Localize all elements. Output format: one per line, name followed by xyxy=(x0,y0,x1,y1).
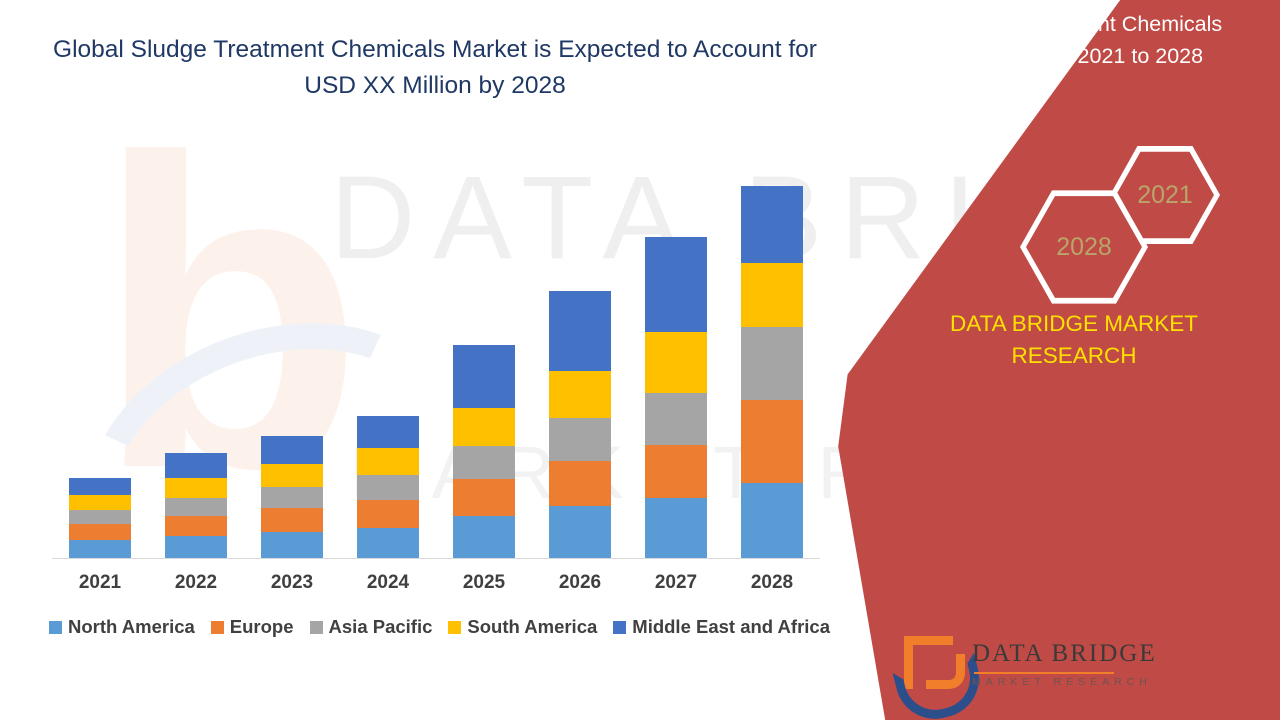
stacked-bar[interactable] xyxy=(645,237,707,558)
hexagon-label-2021: 2021 xyxy=(1137,181,1193,210)
x-axis-label-2025: 2025 xyxy=(436,572,532,594)
x-axis-label-2026: 2026 xyxy=(532,572,628,594)
bar-segment-asia-pacific[interactable] xyxy=(165,498,227,516)
legend-label: Europe xyxy=(230,616,294,638)
hexagon-badge-2028: 2028 xyxy=(1020,188,1148,306)
stacked-bar-chart xyxy=(52,150,820,558)
legend-swatch-icon xyxy=(613,621,626,634)
legend-swatch-icon xyxy=(49,621,62,634)
stacked-bar[interactable] xyxy=(453,345,515,558)
legend-swatch-icon xyxy=(448,621,461,634)
logo-b-icon xyxy=(898,636,966,698)
x-axis-label-2027: 2027 xyxy=(628,572,724,594)
bar-segment-south-america[interactable] xyxy=(165,478,227,498)
bar-segment-europe[interactable] xyxy=(549,461,611,506)
bar-segment-south-america[interactable] xyxy=(741,263,803,327)
bar-segment-middle-east-and-africa[interactable] xyxy=(69,478,131,495)
bar-column-2023 xyxy=(244,150,340,558)
bar-segment-north-america[interactable] xyxy=(453,516,515,558)
bar-segment-north-america[interactable] xyxy=(741,483,803,558)
bar-segment-north-america[interactable] xyxy=(549,506,611,558)
bar-segment-europe[interactable] xyxy=(357,500,419,528)
x-axis-label-2022: 2022 xyxy=(148,572,244,594)
bar-segment-south-america[interactable] xyxy=(453,408,515,446)
stacked-bar[interactable] xyxy=(741,186,803,558)
legend-label: North America xyxy=(68,616,195,638)
logo-tagline: MARKET RESEARCH xyxy=(972,676,1152,688)
bar-segment-europe[interactable] xyxy=(741,400,803,483)
bar-segment-europe[interactable] xyxy=(165,516,227,536)
legend-item-north-america[interactable]: North America xyxy=(49,616,195,638)
x-axis-label-2028: 2028 xyxy=(724,572,820,594)
legend-item-south-america[interactable]: South America xyxy=(448,616,597,638)
bar-segment-middle-east-and-africa[interactable] xyxy=(549,291,611,371)
bar-segment-middle-east-and-africa[interactable] xyxy=(165,453,227,478)
x-axis-label-2023: 2023 xyxy=(244,572,340,594)
brand-name: DATA BRIDGE MARKET RESEARCH xyxy=(904,308,1244,372)
bar-segment-asia-pacific[interactable] xyxy=(549,418,611,461)
hexagon-badges: 2021 2028 xyxy=(1000,150,1220,280)
hexagon-label-2028: 2028 xyxy=(1056,233,1112,262)
legend-item-europe[interactable]: Europe xyxy=(211,616,294,638)
legend-item-middle-east-and-africa[interactable]: Middle East and Africa xyxy=(613,616,830,638)
bar-segment-north-america[interactable] xyxy=(165,536,227,558)
chart-legend: North AmericaEuropeAsia PacificSouth Ame… xyxy=(52,616,827,638)
bar-segment-north-america[interactable] xyxy=(645,498,707,558)
bar-segment-south-america[interactable] xyxy=(549,371,611,418)
bar-segment-asia-pacific[interactable] xyxy=(741,327,803,400)
bar-segment-middle-east-and-africa[interactable] xyxy=(357,416,419,448)
bar-column-2021 xyxy=(52,150,148,558)
bar-segment-middle-east-and-africa[interactable] xyxy=(645,237,707,332)
bar-segment-europe[interactable] xyxy=(453,479,515,516)
bar-segment-south-america[interactable] xyxy=(357,448,419,475)
x-axis-label-2024: 2024 xyxy=(340,572,436,594)
bar-column-2026 xyxy=(532,150,628,558)
bar-column-2027 xyxy=(628,150,724,558)
bar-segment-europe[interactable] xyxy=(261,508,323,532)
bar-segment-north-america[interactable] xyxy=(69,540,131,558)
stacked-bar[interactable] xyxy=(69,478,131,558)
bar-segment-europe[interactable] xyxy=(645,445,707,498)
bar-column-2025 xyxy=(436,150,532,558)
bar-segment-north-america[interactable] xyxy=(357,528,419,558)
bar-segment-south-america[interactable] xyxy=(645,332,707,393)
logo-name: DATA BRIDGE xyxy=(972,640,1157,668)
company-logo: DATA BRIDGE MARKET RESEARCH xyxy=(898,628,1118,706)
legend-swatch-icon xyxy=(211,621,224,634)
bar-column-2022 xyxy=(148,150,244,558)
bar-segment-asia-pacific[interactable] xyxy=(69,510,131,524)
x-axis-label-2021: 2021 xyxy=(52,572,148,594)
bar-column-2028 xyxy=(724,150,820,558)
legend-swatch-icon xyxy=(310,621,323,634)
panel-title: Global Sludge Treatment Chemicals Market… xyxy=(878,8,1278,72)
bar-segment-south-america[interactable] xyxy=(69,495,131,510)
chart-baseline xyxy=(52,558,820,559)
bar-segment-middle-east-and-africa[interactable] xyxy=(453,345,515,408)
stacked-bar[interactable] xyxy=(549,291,611,558)
bar-segment-south-america[interactable] xyxy=(261,464,323,487)
legend-label: Middle East and Africa xyxy=(632,616,830,638)
logo-divider xyxy=(974,672,1114,674)
bar-segment-asia-pacific[interactable] xyxy=(261,487,323,508)
legend-item-asia-pacific[interactable]: Asia Pacific xyxy=(310,616,433,638)
bar-segment-middle-east-and-africa[interactable] xyxy=(741,186,803,263)
bar-segment-europe[interactable] xyxy=(69,524,131,540)
stacked-bar[interactable] xyxy=(261,436,323,558)
bar-column-2024 xyxy=(340,150,436,558)
legend-label: South America xyxy=(467,616,597,638)
bar-segment-asia-pacific[interactable] xyxy=(645,393,707,445)
chart-title: Global Sludge Treatment Chemicals Market… xyxy=(40,32,830,104)
legend-label: Asia Pacific xyxy=(329,616,433,638)
bar-segment-middle-east-and-africa[interactable] xyxy=(261,436,323,464)
x-axis-labels: 20212022202320242025202620272028 xyxy=(52,572,820,594)
stacked-bar[interactable] xyxy=(165,453,227,558)
bar-segment-asia-pacific[interactable] xyxy=(453,446,515,479)
bar-segment-asia-pacific[interactable] xyxy=(357,475,419,500)
stacked-bar[interactable] xyxy=(357,416,419,558)
bar-segment-north-america[interactable] xyxy=(261,532,323,558)
